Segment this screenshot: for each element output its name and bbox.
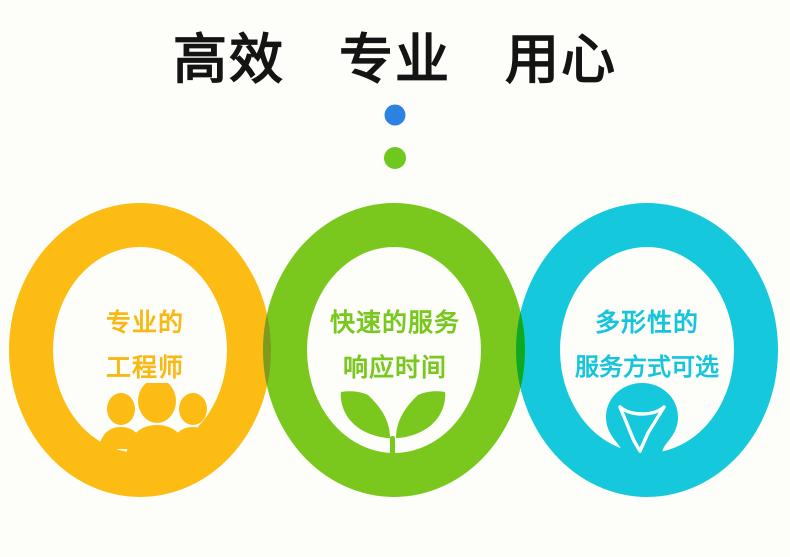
sprout-icon: [335, 382, 451, 474]
headline-word-1: 高效: [173, 28, 285, 92]
ring-caption-service-modes: 多形性的 服务方式可选: [536, 300, 758, 390]
ring-caption-response: 快速的服务 响应时间: [295, 300, 495, 390]
lightbulb-icon: [600, 383, 684, 471]
ring-caption-engineers: 专业的 工程师: [45, 300, 245, 390]
headline-word-3: 用心: [505, 28, 617, 92]
caption-line-1: 多形性的: [536, 300, 758, 345]
connector-green-dot: [384, 147, 406, 169]
connector-blue-dot: [385, 105, 406, 126]
caption-line-1: 快速的服务: [295, 300, 495, 345]
people-icon: [96, 383, 218, 461]
page-title: 高效专业用心: [0, 28, 790, 92]
caption-line-1: 专业的: [45, 300, 245, 345]
infographic-canvas: 高效专业用心: [0, 0, 790, 557]
headline-word-2: 专业: [339, 28, 451, 92]
